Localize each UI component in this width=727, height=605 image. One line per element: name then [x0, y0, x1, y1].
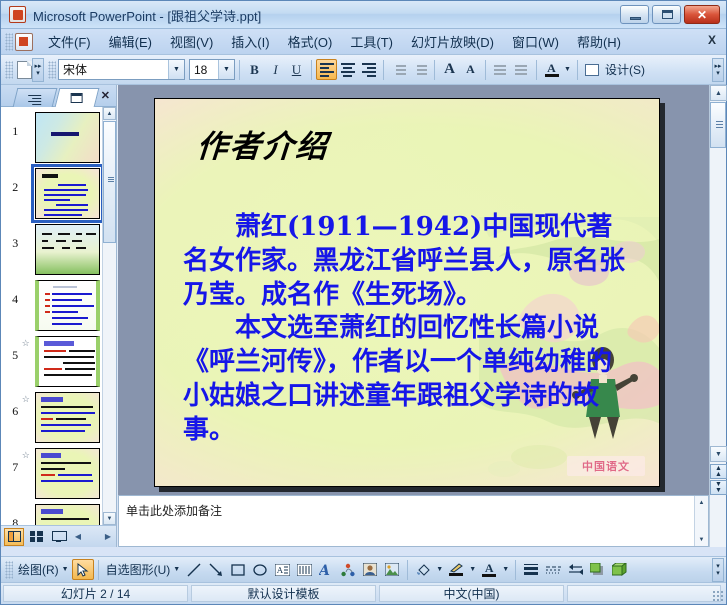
normal-view-button[interactable]: [4, 528, 24, 546]
numbered-list-icon: [392, 63, 406, 77]
dash-style-button[interactable]: [542, 559, 564, 580]
thumbnail-number: 3: [3, 224, 18, 251]
scrollbar-thumb[interactable]: [710, 102, 726, 148]
menu-slideshow[interactable]: 幻灯片放映(D): [402, 30, 503, 53]
status-extra: [567, 585, 721, 602]
toolbar-separator: [434, 60, 435, 80]
list-item[interactable]: 4: [1, 275, 102, 331]
scroll-down-button[interactable]: ▼: [103, 512, 116, 525]
autoshapes-button[interactable]: 自选图形(U): [103, 561, 174, 578]
formatting-toolbar: ▸▸▾ 宋体 ▼ 18 ▼ B I U A A: [1, 55, 726, 85]
maximize-icon: [662, 10, 673, 19]
slide-thumbnail[interactable]: [35, 392, 100, 443]
three-d-style-icon: [612, 563, 627, 576]
minimize-button[interactable]: [620, 5, 649, 24]
toolbar-separator: [98, 560, 99, 580]
font-size-value: 18: [190, 63, 207, 77]
align-center-button[interactable]: [337, 59, 358, 80]
menu-file[interactable]: 文件(F): [39, 30, 100, 53]
slide-sorter-view-button[interactable]: [26, 528, 46, 546]
animation-star-icon: ☆: [18, 448, 33, 461]
chevron-down-icon[interactable]: ▼: [173, 566, 183, 573]
thumbnail-number: 7: [3, 448, 18, 475]
animation-star-icon: ☆: [18, 336, 33, 349]
animation-star-icon: ☆: [18, 392, 33, 405]
scroll-up-button[interactable]: ▲: [103, 107, 116, 120]
italic-button[interactable]: I: [265, 59, 286, 80]
slide-thumbnail[interactable]: [35, 112, 100, 163]
view-buttons-bar: ◀ ▶: [1, 525, 116, 547]
menu-tools[interactable]: 工具(T): [341, 30, 402, 53]
decrease-indent-icon: [494, 63, 508, 77]
chevron-down-icon[interactable]: ▼: [168, 60, 184, 79]
line-icon: [187, 563, 201, 577]
menu-grip[interactable]: [5, 33, 13, 51]
thumbnail-number: 4: [3, 280, 18, 307]
promote-button[interactable]: [490, 59, 511, 80]
align-right-icon: [362, 61, 376, 79]
decrease-font-button[interactable]: A: [460, 59, 481, 80]
next-slide-button[interactable]: ▼▼: [710, 480, 727, 495]
toolbar-separator: [383, 60, 384, 80]
tab-slides[interactable]: [55, 88, 100, 107]
bullets-button[interactable]: [409, 59, 430, 80]
chevron-down-icon[interactable]: ▼: [62, 566, 72, 573]
draw-menu-button[interactable]: 绘图(R): [15, 561, 62, 578]
notes-placeholder[interactable]: 单击此处添加备注: [119, 496, 708, 525]
list-item[interactable]: 7 ☆: [1, 443, 102, 499]
menu-bar: 文件(F) 编辑(E) 视图(V) 插入(I) 格式(O) 工具(T) 幻灯片放…: [1, 29, 726, 55]
chevron-down-icon[interactable]: ▼: [218, 60, 234, 79]
menu-window[interactable]: 窗口(W): [503, 30, 568, 53]
toolbar-options-2-icon[interactable]: ▸▸▾: [712, 58, 724, 82]
powerpoint-icon: [9, 6, 26, 23]
new-document-icon[interactable]: [17, 61, 32, 79]
thumbnail-number: 1: [3, 112, 18, 139]
slide-thumbnail[interactable]: [35, 336, 100, 387]
close-panel-button[interactable]: ✕: [101, 89, 110, 102]
menu-format[interactable]: 格式(O): [279, 30, 342, 53]
slide-thumbnail-panel: ✕ 1 2: [1, 85, 117, 547]
line-style-icon: [524, 562, 538, 578]
word-art-button[interactable]: A: [315, 559, 337, 580]
workspace: ✕ 1 2: [1, 85, 726, 547]
toolbar-separator: [536, 60, 537, 80]
powerpoint-window: Microsoft PowerPoint - [跟祖父学诗.ppt] ✕ 文件(…: [0, 0, 727, 605]
toolbar-separator: [485, 60, 486, 80]
insert-picture-button[interactable]: [381, 559, 403, 580]
slide-thumbnail[interactable]: [35, 280, 100, 331]
arrow-tool-button[interactable]: [205, 559, 227, 580]
line-color-swatch: [449, 573, 463, 576]
slide-paragraph-1: 萧红(1911—1942)中国现代著名女作家。黑龙江省呼兰县人，原名张乃莹。成名…: [183, 211, 631, 312]
toolbar-grip-2[interactable]: [48, 61, 56, 79]
font-name-value: 宋体: [59, 61, 87, 78]
maximize-button[interactable]: [652, 5, 681, 24]
thumbnail-number: 5: [3, 336, 18, 363]
svg-text:A: A: [319, 563, 330, 577]
font-color-button[interactable]: A: [541, 59, 562, 80]
close-document-button[interactable]: X: [708, 33, 716, 47]
align-left-icon: [320, 61, 334, 79]
notes-scroll-up[interactable]: ▲: [695, 496, 708, 509]
arrow-icon: [209, 563, 223, 577]
shadow-style-icon: [590, 563, 605, 576]
picture-icon: [385, 563, 399, 576]
dash-style-icon: [546, 564, 561, 576]
title-bar: Microsoft PowerPoint - [跟祖父学诗.ppt] ✕: [1, 1, 726, 29]
window-title: Microsoft PowerPoint - [跟祖父学诗.ppt]: [33, 6, 261, 25]
notes-scroll-down[interactable]: ▼: [695, 533, 708, 546]
slide-edit-area: 作者介绍 萧红(1911—1942)中国现代著名女作家。黑龙江省呼兰县人，原名张…: [118, 85, 709, 547]
oval-icon: [253, 564, 267, 576]
slide-show-button[interactable]: [48, 528, 68, 546]
list-item[interactable]: 8: [1, 499, 102, 525]
oval-tool-button[interactable]: [249, 559, 271, 580]
font-color-icon: A: [485, 563, 494, 574]
slide-container: 作者介绍 萧红(1911—1942)中国现代著名女作家。黑龙江省呼兰县人，原名张…: [154, 98, 660, 487]
thumbnail-number: 6: [3, 392, 18, 419]
current-slide[interactable]: 作者介绍 萧红(1911—1942)中国现代著名女作家。黑龙江省呼兰县人，原名张…: [154, 98, 660, 487]
scroll-down-button[interactable]: ▼: [710, 446, 727, 462]
select-objects-button[interactable]: [72, 559, 94, 580]
slide-thumbnail-selected[interactable]: [35, 168, 100, 219]
list-item[interactable]: 1: [1, 107, 102, 163]
font-color-button[interactable]: A: [478, 559, 500, 580]
slide-vertical-scrollbar[interactable]: ▲ ▼ ▲▲ ▼▼: [709, 85, 726, 547]
clip-art-icon: [363, 563, 377, 576]
window-controls: ✕: [620, 5, 720, 24]
menu-view[interactable]: 视图(V): [161, 30, 222, 53]
hscroll-right-button[interactable]: ▶: [100, 529, 116, 544]
panel-scrollbar[interactable]: ▲ ▼: [102, 107, 116, 525]
thumbnail-star: [18, 504, 33, 506]
fill-color-button[interactable]: [412, 559, 434, 580]
shadow-style-button[interactable]: [586, 559, 608, 580]
slide-watermark: 中国语文: [567, 456, 645, 476]
status-slide-counter: 幻灯片 2 / 14: [3, 585, 188, 602]
slide-paragraph-2: 本文选至萧红的回忆性长篇小说《呼兰河传》，作者以一个单纯幼稚的小姑娘之口讲述童年…: [183, 312, 631, 447]
toolbar-options-3-icon[interactable]: ▾▾: [712, 558, 724, 582]
hscroll-left-button[interactable]: ◀: [70, 529, 86, 544]
close-button[interactable]: ✕: [684, 5, 720, 24]
text-box-icon: A: [275, 564, 290, 576]
font-color-swatch: [482, 574, 496, 577]
diagram-icon: [341, 563, 355, 577]
align-center-icon: [341, 61, 355, 79]
rectangle-tool-button[interactable]: [227, 559, 249, 580]
double-up-icon: ▲▲: [715, 466, 722, 478]
line-tool-button[interactable]: [183, 559, 205, 580]
panel-tabs: ✕: [1, 85, 116, 107]
font-color-dropdown[interactable]: ▼: [562, 59, 573, 80]
document-icon: [15, 33, 33, 51]
rectangle-icon: [231, 564, 245, 576]
font-color-icon: A: [547, 63, 556, 74]
list-item[interactable]: 2: [1, 163, 102, 219]
design-icon: [585, 64, 599, 76]
underline-button[interactable]: U: [286, 59, 307, 80]
slide-show-icon: [52, 531, 65, 542]
thumbnail-number: 2: [3, 168, 18, 195]
list-item[interactable]: 5 ☆: [1, 331, 102, 387]
thumbnail-list[interactable]: 1 2: [1, 107, 102, 525]
align-left-button[interactable]: [316, 59, 337, 80]
menu-edit[interactable]: 编辑(E): [100, 30, 161, 53]
status-bar: 幻灯片 2 / 14 默认设计模板 中文(中国): [1, 582, 726, 604]
demote-button[interactable]: [511, 59, 532, 80]
toolbar-separator: [239, 60, 240, 80]
arrow-style-icon: [568, 563, 583, 576]
toolbar-separator: [515, 560, 516, 580]
list-item[interactable]: 3: [1, 219, 102, 275]
design-button[interactable]: 设计(S): [582, 59, 651, 80]
diagram-button[interactable]: [337, 559, 359, 580]
font-color-dropdown[interactable]: ▼: [500, 559, 511, 580]
slide-thumbnail[interactable]: [35, 224, 100, 275]
status-language[interactable]: 中文(中国): [379, 585, 564, 602]
bold-button[interactable]: B: [244, 59, 265, 80]
fill-color-icon: [416, 563, 431, 577]
thumbnail-star: [18, 224, 33, 226]
design-label: 设计(S): [602, 61, 648, 78]
line-color-button[interactable]: [445, 559, 467, 580]
slide-title[interactable]: 作者介绍: [195, 121, 330, 166]
slide-thumbnail[interactable]: [35, 504, 100, 525]
slide-sorter-icon: [30, 531, 43, 542]
thumbnail-star: [18, 280, 33, 282]
drawing-toolbar: 绘图(R) ▼ 自选图形(U) ▼ A A ▼: [1, 556, 726, 582]
vertical-text-box-button[interactable]: [293, 559, 315, 580]
list-item[interactable]: 6 ☆: [1, 387, 102, 443]
notes-pane[interactable]: 单击此处添加备注 ▲ ▼: [118, 495, 709, 547]
svg-text:A: A: [276, 566, 283, 575]
slide-thumbnail[interactable]: [35, 448, 100, 499]
toolbar-separator: [407, 560, 408, 580]
font-name-combo[interactable]: 宋体 ▼: [58, 59, 185, 80]
vertical-text-box-icon: [297, 564, 312, 576]
menu-help[interactable]: 帮助(H): [568, 30, 630, 53]
toolbar-separator: [577, 60, 578, 80]
thumbnail-number: 8: [3, 504, 18, 525]
fill-color-dropdown[interactable]: ▼: [434, 559, 445, 580]
increase-indent-icon: [515, 63, 529, 77]
line-style-button[interactable]: [520, 559, 542, 580]
scroll-up-button[interactable]: ▲: [710, 85, 727, 101]
scrollbar-thumb[interactable]: [103, 121, 116, 243]
slides-tab-icon: [58, 93, 96, 105]
toolbar-options-1-icon[interactable]: ▸▸▾: [32, 58, 44, 82]
previous-slide-button[interactable]: ▲▲: [710, 464, 727, 479]
align-right-button[interactable]: [358, 59, 379, 80]
double-down-icon: ▼▼: [715, 482, 722, 494]
notes-scrollbar[interactable]: ▲ ▼: [694, 496, 708, 546]
status-design-template[interactable]: 默认设计模板: [191, 585, 376, 602]
drawbar-grip[interactable]: [5, 561, 13, 579]
thumbnail-star: [18, 112, 33, 114]
line-color-icon: [449, 563, 464, 573]
normal-view-icon: [8, 531, 21, 542]
arrow-style-button[interactable]: [564, 559, 586, 580]
slide-body-text[interactable]: 萧红(1911—1942)中国现代著名女作家。黑龙江省呼兰县人，原名张乃莹。成名…: [183, 211, 631, 448]
toolbar-grip-1[interactable]: [5, 61, 13, 79]
select-arrow-icon: [77, 563, 89, 577]
text-box-button[interactable]: A: [271, 559, 293, 580]
clip-art-button[interactable]: [359, 559, 381, 580]
numbering-button[interactable]: [388, 59, 409, 80]
three-d-style-button[interactable]: [608, 559, 630, 580]
minimize-icon: [630, 17, 641, 20]
resize-grip[interactable]: [712, 590, 724, 602]
font-color-swatch: [545, 74, 559, 77]
thumbnail-star: [18, 168, 33, 170]
close-icon: ✕: [685, 8, 719, 22]
menu-insert[interactable]: 插入(I): [222, 30, 278, 53]
bulleted-list-icon: [413, 63, 427, 77]
toolbar-separator: [311, 60, 312, 80]
tab-outline[interactable]: [13, 88, 58, 107]
font-size-combo[interactable]: 18 ▼: [189, 59, 235, 80]
line-color-dropdown[interactable]: ▼: [467, 559, 478, 580]
increase-font-button[interactable]: A: [439, 59, 460, 80]
word-art-icon: A: [319, 563, 334, 577]
